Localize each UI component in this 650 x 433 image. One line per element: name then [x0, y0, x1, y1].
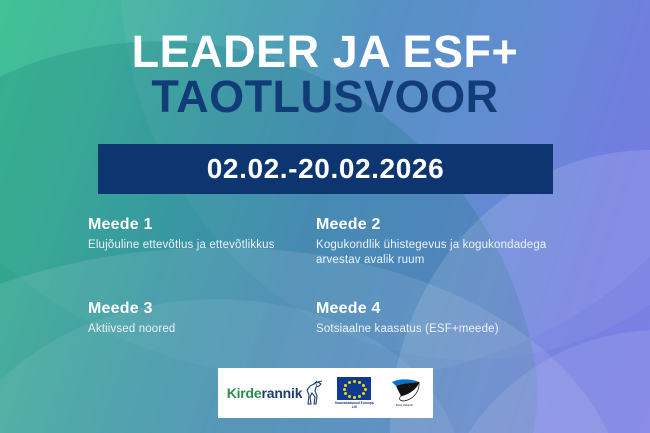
estonia-flag-swoosh-icon [386, 378, 422, 403]
eu-flag-icon [337, 377, 371, 400]
measure-3-title: Meede 3 [88, 300, 316, 318]
measure-item-4: Meede 4 Sotsiaalne kaasatus (ESF+meede) [316, 300, 593, 337]
kirderannik-text-green: Kirde [227, 385, 262, 401]
measure-4-description: Sotsiaalne kaasatus (ESF+meede) [316, 322, 566, 337]
kirderannik-logo: Kirderannik [227, 380, 325, 406]
kirderannik-text-navy: rannik [261, 385, 302, 401]
measure-1-description: Elujõuline ettevõtlus ja ettevõtlikkus [88, 238, 316, 253]
date-banner: 02.02.-20.02.2026 [98, 144, 553, 194]
eu-logo: Kaasrahastanud Euroopa Liit [334, 377, 374, 409]
poster-title-line2: TAOTLUSVOOR [0, 74, 650, 120]
measure-2-title: Meede 2 [316, 216, 593, 234]
goat-icon [302, 380, 324, 406]
estonia-logo: Eesti Vabariik [384, 378, 424, 407]
measure-item-1: Meede 1 Elujõuline ettevõtlus ja ettevõt… [88, 216, 316, 268]
poster-title-line1: LEADER JA ESF+ [0, 30, 650, 74]
measure-item-2: Meede 2 Kogukondlik ühistegevus ja koguk… [316, 216, 593, 268]
poster-header: LEADER JA ESF+ TAOTLUSVOOR [0, 30, 650, 120]
measure-3-description: Aktiivsed noored [88, 322, 316, 337]
footer-logo-bar: Kirderannik Kaasraha [218, 368, 433, 418]
measures-grid: Meede 1 Elujõuline ettevõtlus ja ettevõt… [88, 216, 593, 337]
poster-canvas: LEADER JA ESF+ TAOTLUSVOOR 02.02.-20.02.… [0, 0, 650, 433]
eu-logo-caption: Kaasrahastanud Euroopa Liit [334, 402, 374, 409]
measure-4-title: Meede 4 [316, 300, 593, 318]
measure-2-description: Kogukondlik ühistegevus ja kogukondadega… [316, 238, 566, 268]
background-circle-bottom-right [430, 330, 650, 433]
measure-1-title: Meede 1 [88, 216, 316, 234]
estonia-logo-caption: Eesti Vabariik [384, 404, 424, 407]
date-range-text: 02.02.-20.02.2026 [207, 153, 445, 185]
measure-item-3: Meede 3 Aktiivsed noored [88, 300, 316, 337]
